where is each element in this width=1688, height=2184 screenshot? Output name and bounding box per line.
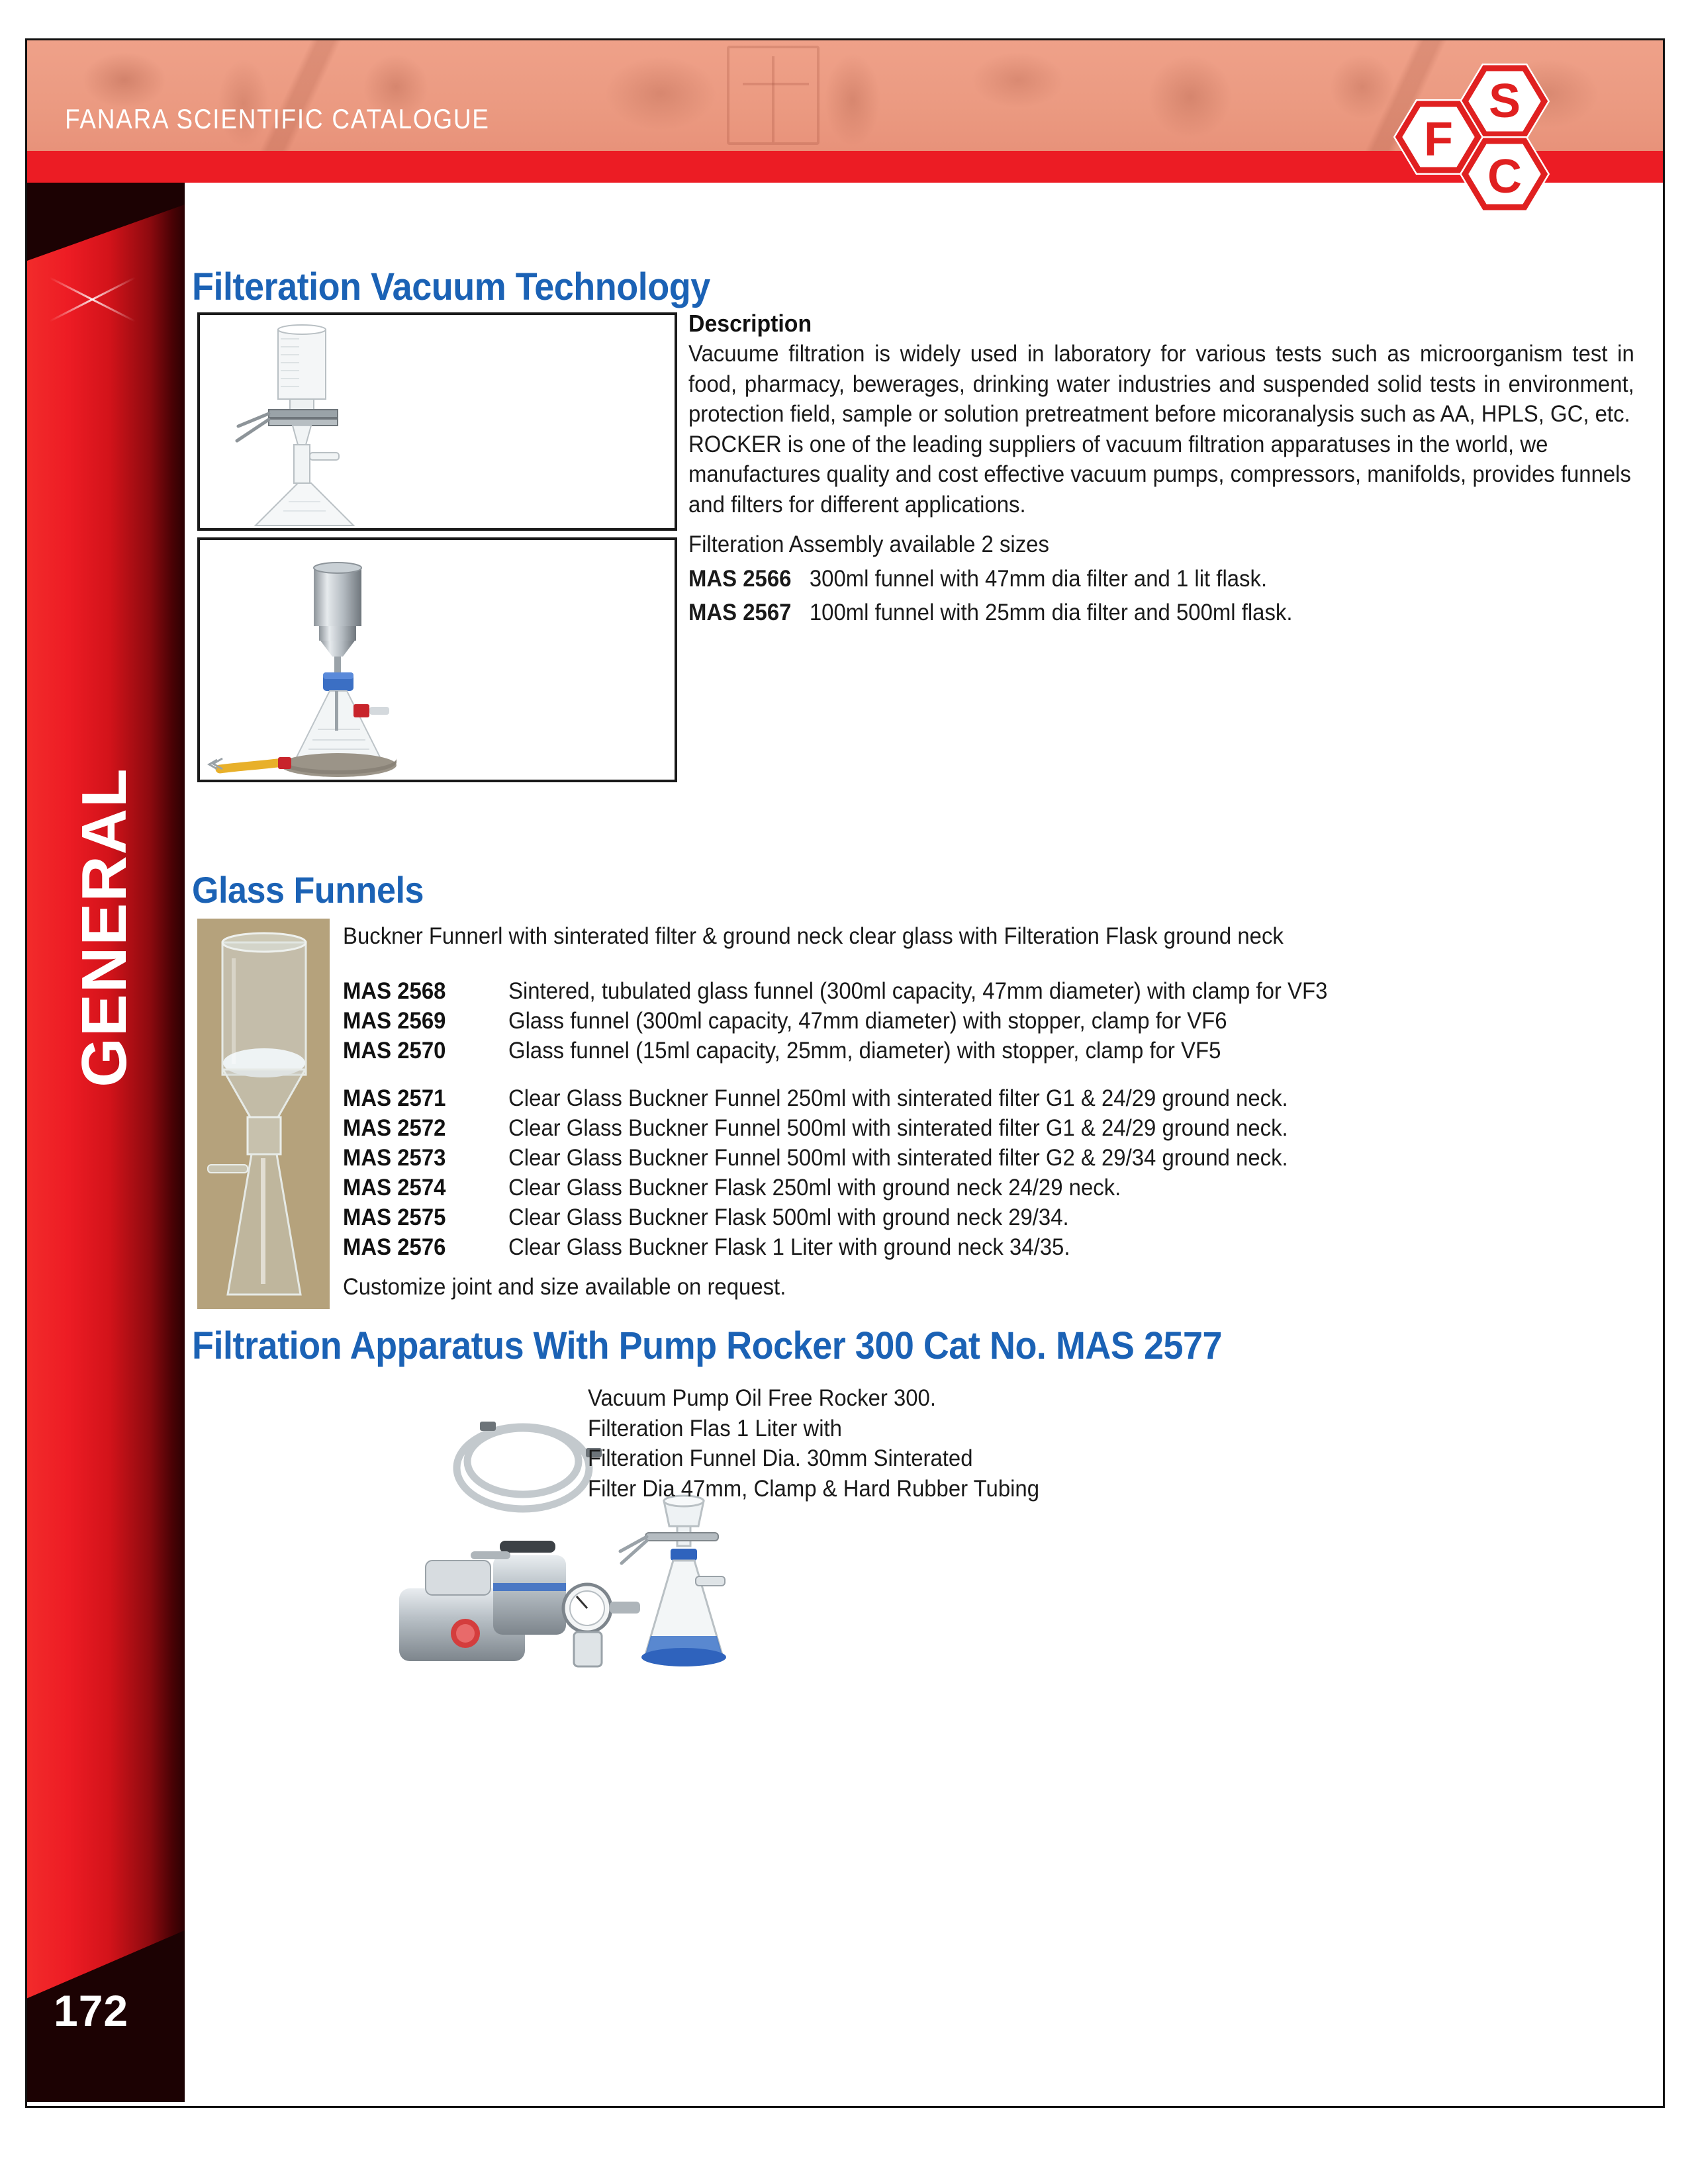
catalogue-page: FANARA SCIENTIFIC CATALOGUE S C F (0, 0, 1688, 2184)
customize-note: Customize joint and size available on re… (343, 1272, 786, 1302)
product-row: MAS 2574 Clear Glass Buckner Flask 250ml… (343, 1175, 1338, 1201)
product-image-buchner-funnel (197, 919, 330, 1309)
product-description: Clear Glass Buckner Flask 250ml with gro… (508, 1175, 1121, 1201)
assembly-item-code: MAS 2566 (688, 566, 804, 592)
product-description: Sintered, tubulated glass funnel (300ml … (508, 978, 1327, 1005)
product-code: MAS 2572 (343, 1115, 498, 1142)
apparatus-line: Vacuum Pump Oil Free Rocker 300. (588, 1383, 1397, 1414)
buchner-funnel-illustration (197, 919, 330, 1309)
assembly-item-desc: 100ml funnel with 25mm dia filter and 50… (810, 600, 1293, 625)
description-heading: Description (688, 310, 1578, 338)
product-code: MAS 2571 (343, 1085, 498, 1112)
product-image-vacuum-assembly-glass (197, 312, 677, 531)
apparatus-line: Filteration Flas 1 Liter with (588, 1414, 1397, 1444)
product-code: MAS 2568 (343, 978, 498, 1005)
apparatus-line: Filteration Funnel Dia. 30mm Sinterated (588, 1443, 1397, 1474)
catalogue-title: FANARA SCIENTIFIC CATALOGUE (65, 103, 490, 135)
assembly-heading: Filteration Assembly available 2 sizes (688, 529, 1578, 560)
product-row: MAS 2572 Clear Glass Buckner Funnel 500m… (343, 1115, 1338, 1142)
assembly-item: MAS 2567 100ml funnel with 25mm dia filt… (688, 598, 1578, 628)
description-paragraph-1: Vacuume filtration is widely used in lab… (688, 339, 1634, 430)
steel-funnel-assembly-illustration (200, 540, 675, 780)
product-row: MAS 2570 Glass funnel (15ml capacity, 25… (343, 1038, 1380, 1064)
product-row: MAS 2571 Clear Glass Buckner Funnel 250m… (343, 1085, 1338, 1112)
logo-letter-f: F (1424, 113, 1453, 166)
logo-letter-c: C (1487, 150, 1522, 203)
heading-glass-funnels: Glass Funnels (192, 868, 424, 911)
product-code: MAS 2570 (343, 1038, 498, 1064)
product-description: Glass funnel (300ml capacity, 47mm diame… (508, 1008, 1227, 1034)
sparkle-icon (44, 275, 137, 322)
description-paragraph-2: ROCKER is one of the leading suppliers o… (688, 430, 1634, 520)
assembly-item-code: MAS 2567 (688, 600, 804, 625)
glass-funnels-lead: Buckner Funnerl with sinterated filter &… (343, 921, 1562, 952)
product-code: MAS 2574 (343, 1175, 498, 1201)
product-description: Glass funnel (15ml capacity, 25mm, diame… (508, 1038, 1221, 1064)
fsc-logo: S C F (1387, 63, 1552, 222)
section-tab-sidebar: GENERAL 172 (27, 183, 185, 2102)
product-description: Clear Glass Buckner Flask 500ml with gro… (508, 1205, 1069, 1231)
product-row: MAS 2573 Clear Glass Buckner Funnel 500m… (343, 1145, 1338, 1171)
page-number: 172 (54, 1985, 128, 2036)
assembly-item-desc: 300ml funnel with 47mm dia filter and 1 … (810, 566, 1267, 592)
product-row: MAS 2568 Sintered, tubulated glass funne… (343, 978, 1380, 1005)
product-list-group-a: MAS 2568 Sintered, tubulated glass funne… (343, 978, 1380, 1068)
assembly-block: Filteration Assembly available 2 sizes M… (688, 529, 1635, 628)
product-code: MAS 2576 (343, 1234, 498, 1261)
apparatus-line: Filter Dia 47mm, Clamp & Hard Rubber Tub… (588, 1474, 1397, 1504)
product-code: MAS 2573 (343, 1145, 498, 1171)
sidebar-top-wedge (27, 183, 185, 261)
heading-filtration-apparatus: Filtration Apparatus With Pump Rocker 30… (192, 1324, 1222, 1368)
product-description: Clear Glass Buckner Flask 1 Liter with g… (508, 1234, 1070, 1261)
heading-filteration-vacuum-technology: Filteration Vacuum Technology (192, 265, 710, 309)
sidebar-section-label: GENERAL (68, 679, 141, 1175)
apparatus-description: Vacuum Pump Oil Free Rocker 300. Filtera… (588, 1383, 1448, 1504)
product-description: Clear Glass Buckner Funnel 250ml with si… (508, 1085, 1288, 1112)
product-description: Clear Glass Buckner Funnel 500ml with si… (508, 1145, 1288, 1171)
description-block: Description Vacuume filtration is widely… (688, 310, 1635, 520)
header-decor-apparatus-frame (727, 46, 820, 145)
product-row: MAS 2569 Glass funnel (300ml capacity, 4… (343, 1008, 1380, 1034)
product-image-vacuum-assembly-steel (197, 537, 677, 782)
product-code: MAS 2569 (343, 1008, 498, 1034)
assembly-item: MAS 2566 300ml funnel with 47mm dia filt… (688, 564, 1578, 594)
product-row: MAS 2576 Clear Glass Buckner Flask 1 Lit… (343, 1234, 1338, 1261)
product-list-group-b: MAS 2571 Clear Glass Buckner Funnel 250m… (343, 1085, 1338, 1264)
product-description: Clear Glass Buckner Funnel 500ml with si… (508, 1115, 1288, 1142)
glass-filtration-assembly-illustration (200, 315, 675, 528)
logo-letter-s: S (1489, 75, 1521, 128)
product-row: MAS 2575 Clear Glass Buckner Flask 500ml… (343, 1205, 1338, 1231)
product-code: MAS 2575 (343, 1205, 498, 1231)
